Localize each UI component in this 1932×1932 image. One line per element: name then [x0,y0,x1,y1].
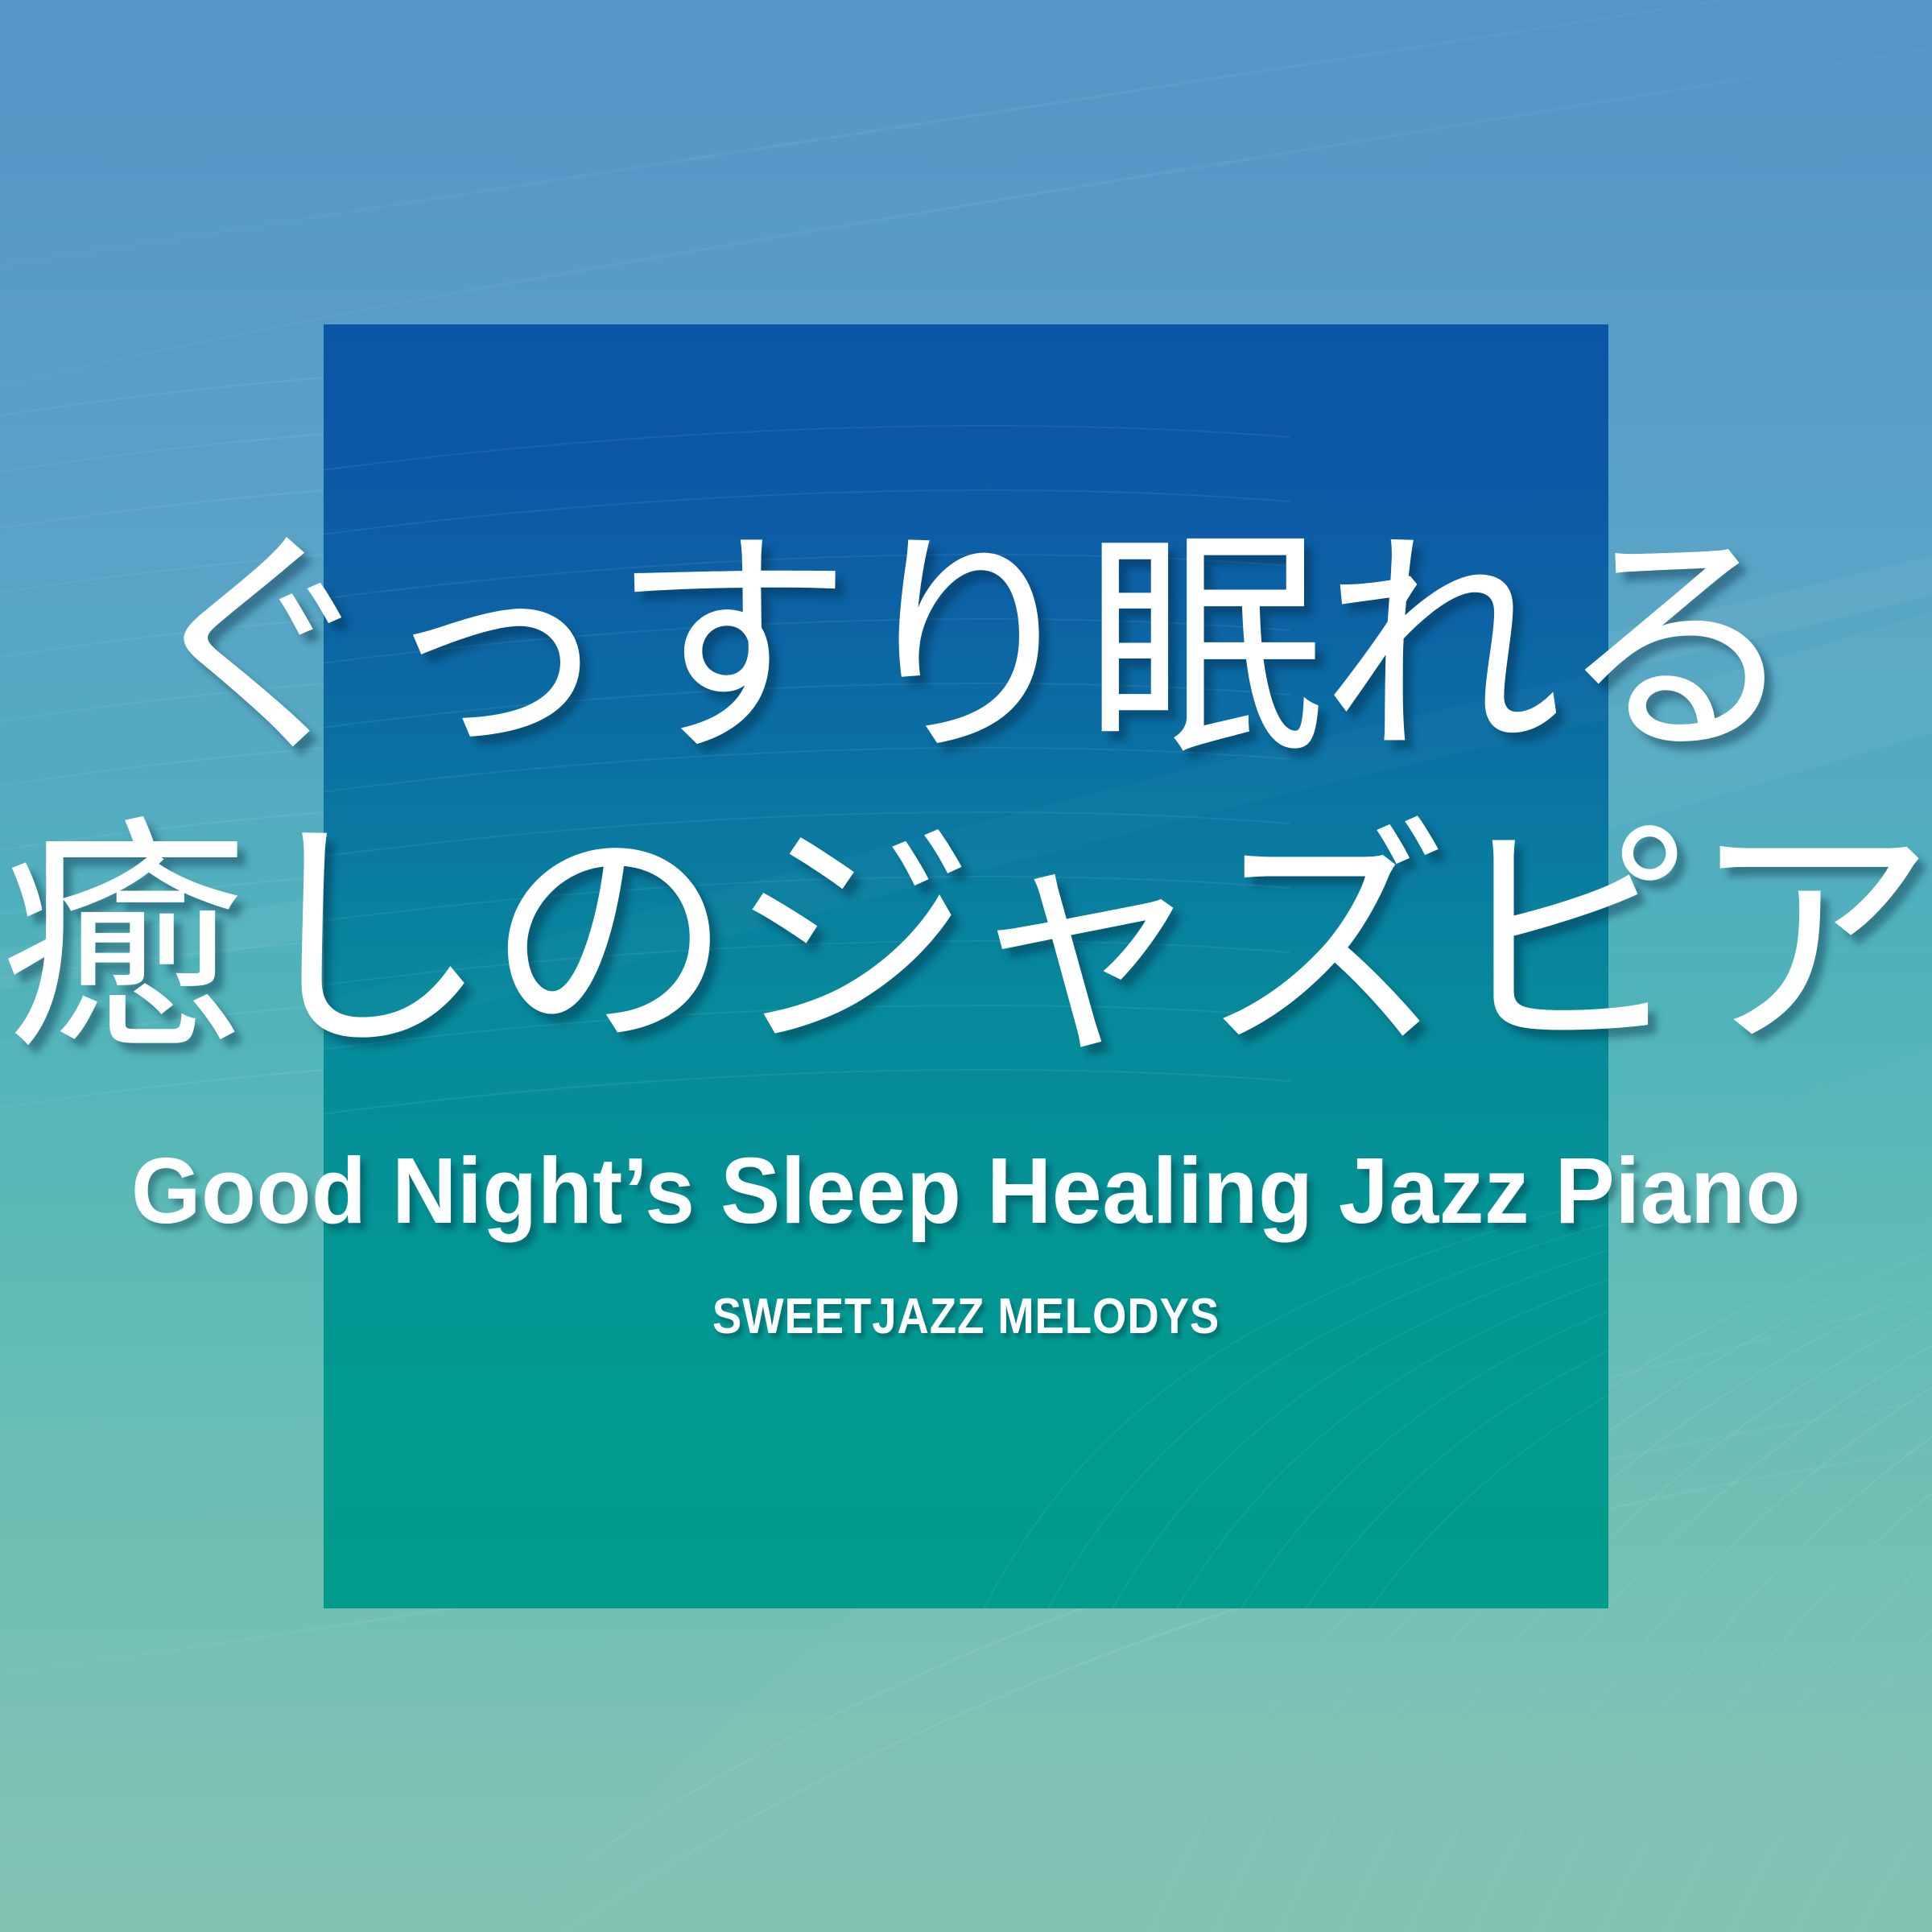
english-subtitle: Good Night’s Sleep Healing Jazz Piano [39,1137,1893,1245]
japanese-title-line-2: 癒しのジャズピアノ [0,817,1932,1063]
album-cover: ぐっすり眠れる 癒しのジャズピアノ Good Night’s Sleep Hea… [0,0,1932,1932]
artist-name: SWEETJAZZ MELODYS [116,1288,1816,1345]
cover-text-layer: ぐっすり眠れる 癒しのジャズピアノ Good Night’s Sleep Hea… [0,0,1932,1932]
japanese-title-line-1: ぐっすり眠れる [0,527,1932,769]
